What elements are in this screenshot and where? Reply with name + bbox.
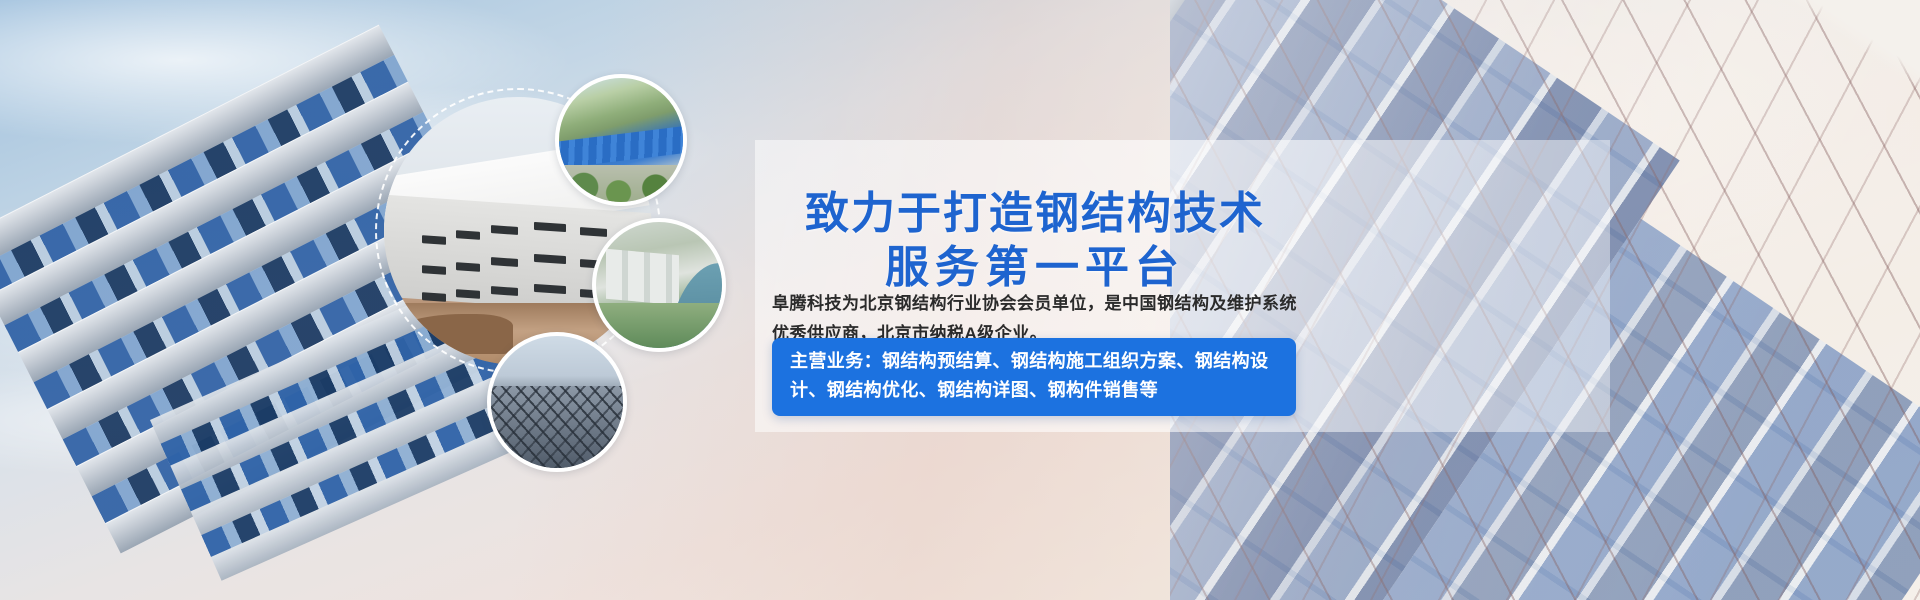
headline-line-2: 服务第一平台 bbox=[770, 241, 1300, 295]
steel-space-frame-circle bbox=[487, 332, 627, 472]
main-business-box: 主营业务：钢结构预结算、钢结构施工组织方案、钢结构设计、钢结构优化、钢结构详图、… bbox=[772, 338, 1296, 416]
banner-headline: 致力于打造钢结构技术 服务第一平台 bbox=[770, 187, 1300, 295]
hero-banner: 致力于打造钢结构技术 服务第一平台 阜腾科技为北京钢结构行业协会会员单位，是中国… bbox=[0, 0, 1920, 600]
photo-circle-cluster bbox=[0, 0, 760, 600]
aerial-campus-river-circle bbox=[592, 218, 726, 352]
aerial-blue-roof-plant-circle bbox=[555, 74, 687, 206]
headline-line-1: 致力于打造钢结构技术 bbox=[805, 188, 1265, 239]
